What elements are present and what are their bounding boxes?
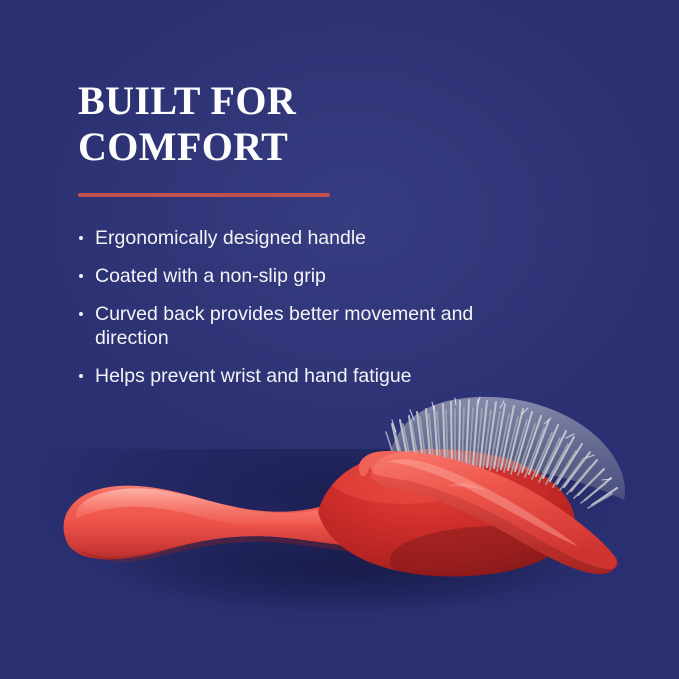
feature-list-item: Ergonomically designed handle xyxy=(78,226,498,251)
ergonomic-wavy-handle xyxy=(64,480,494,562)
contact-shadow xyxy=(102,522,602,614)
product-feature-infographic: BUILT FOR COMFORT Ergonomically designed… xyxy=(0,0,679,679)
headline-line-1: BUILT FOR xyxy=(78,78,498,124)
feature-list: Ergonomically designed handle Coated wit… xyxy=(78,226,498,389)
title-divider-rule xyxy=(78,193,330,197)
handle-head-joint-highlight xyxy=(448,483,484,490)
product-floor-shadow xyxy=(0,449,679,679)
feature-list-item: Helps prevent wrist and hand fatigue xyxy=(78,364,498,389)
curved-pin-plate xyxy=(359,451,618,574)
curved-brush-head-dome xyxy=(318,444,610,594)
metal-pin-bristles xyxy=(386,397,625,508)
feature-list-item: Curved back provides better movement and… xyxy=(78,302,498,352)
page-title: BUILT FOR COMFORT xyxy=(78,78,498,169)
headline-line-2: COMFORT xyxy=(78,124,498,170)
copy-block: BUILT FOR COMFORT Ergonomically designed… xyxy=(78,78,498,389)
feature-list-item: Coated with a non-slip grip xyxy=(78,264,498,289)
